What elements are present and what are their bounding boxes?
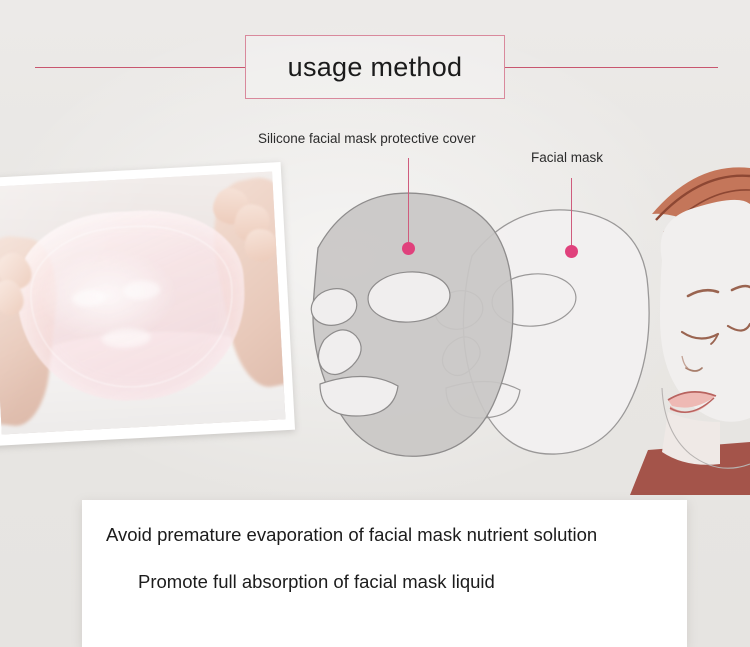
face-neck — [662, 412, 720, 465]
mask-illustration — [296, 150, 750, 495]
leader-line-silicone-cover — [408, 158, 409, 242]
silicone-cover-body — [313, 193, 513, 456]
photo-mask-eye-hole-right — [123, 280, 160, 301]
photo-mask-mouth-hole — [101, 327, 152, 349]
benefit-text-2: Promote full absorption of facial mask l… — [138, 573, 687, 592]
benefit-text-1: Avoid premature evaporation of facial ma… — [106, 526, 687, 545]
leader-dot-silicone-cover — [402, 242, 415, 255]
photo-mask-eye-hole-left — [71, 288, 106, 307]
benefits-card: Avoid premature evaporation of facial ma… — [82, 500, 687, 647]
callout-label-facial-mask: Facial mask — [531, 151, 603, 165]
infographic-page: usage method — [0, 0, 750, 647]
product-photo-card — [0, 162, 295, 446]
title-rule-right — [505, 67, 718, 68]
title-box: usage method — [245, 35, 505, 99]
leader-line-facial-mask — [571, 178, 572, 246]
page-title: usage method — [288, 54, 463, 81]
product-photo — [0, 172, 285, 435]
title-rule-left — [35, 67, 245, 68]
callout-label-silicone-cover: Silicone facial mask protective cover — [258, 132, 476, 146]
leader-dot-facial-mask — [565, 245, 578, 258]
face-mask-surface — [660, 200, 750, 422]
silicone-cover-illustration — [307, 193, 513, 456]
